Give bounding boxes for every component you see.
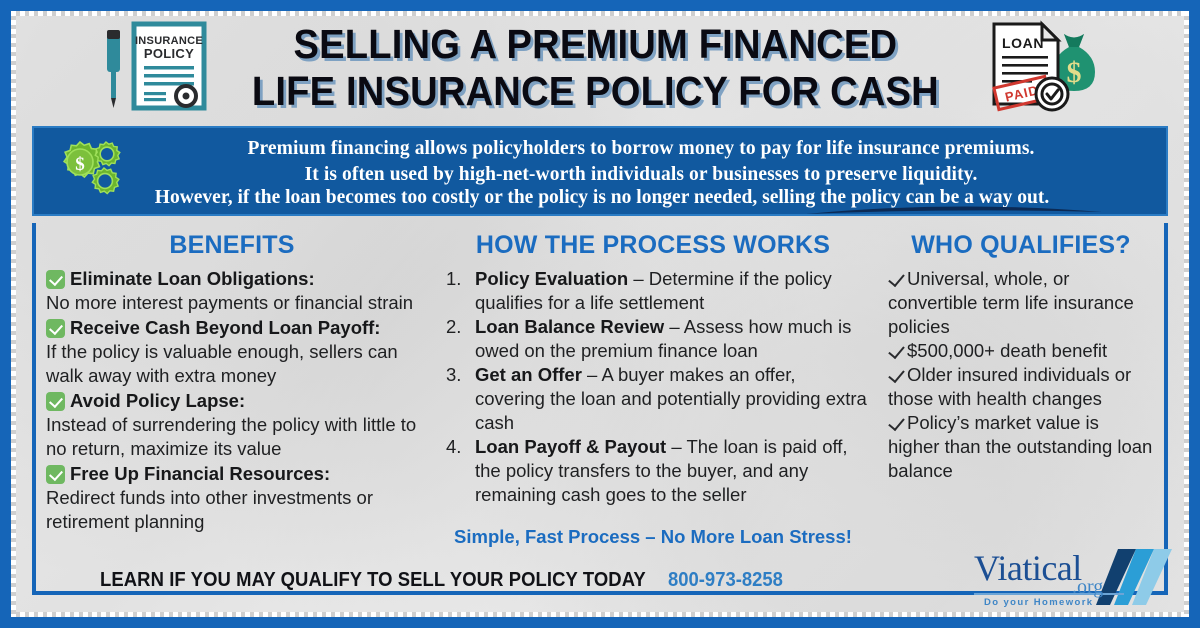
svg-text:LOAN: LOAN: [1002, 35, 1044, 51]
process-step: Policy Evaluation – Determine if the pol…: [444, 267, 868, 315]
three-column-layout: BENEFITS Eliminate Loan Obligations: No …: [36, 223, 1164, 548]
benefit-title-row: Eliminate Loan Obligations:: [46, 267, 418, 291]
banner-line-1: Premium financing allows policyholders t…: [130, 136, 1152, 162]
process-step-dash: –: [664, 316, 684, 337]
title-line-1: SELLING A PREMIUM FINANCED: [251, 21, 938, 68]
benefits-heading: BENEFITS: [46, 231, 418, 260]
benefit-item: Avoid Policy Lapse: Instead of surrender…: [46, 389, 418, 461]
benefit-title: Avoid Policy Lapse:: [70, 389, 245, 413]
process-step-title: Loan Balance Review: [475, 316, 664, 337]
qualify-heading: WHO QUALIFIES?: [888, 231, 1154, 260]
process-step-dash: –: [628, 268, 649, 289]
green-check-icon: [46, 392, 65, 411]
process-tagline: Simple, Fast Process – No More Loan Stre…: [438, 526, 868, 548]
frame-left-bar: [0, 0, 11, 628]
banner-underline-swoosh: [804, 204, 1104, 217]
column-process: HOW THE PROCESS WORKS Policy Evaluation …: [428, 223, 878, 548]
green-check-icon: [46, 465, 65, 484]
qualify-item: Universal, whole, or convertible term li…: [888, 267, 1154, 339]
qualify-item: $500,000+ death benefit: [888, 339, 1154, 363]
green-check-icon: [46, 270, 65, 289]
checkmark-icon: [888, 272, 905, 286]
process-step: Loan Payoff & Payout – The loan is paid …: [444, 435, 868, 507]
benefit-item: Eliminate Loan Obligations: No more inte…: [46, 267, 418, 315]
qualify-item-text: $500,000+ death benefit: [907, 340, 1107, 361]
frame-top-bar: [0, 0, 1200, 11]
green-check-icon: [46, 319, 65, 338]
qualify-item-text: Universal, whole, or convertible term li…: [888, 268, 1134, 337]
process-step-dash: –: [582, 364, 602, 385]
process-step: Loan Balance Review – Assess how much is…: [444, 315, 868, 363]
checkmark-icon: [888, 416, 905, 430]
benefit-body: No more interest payments or financial s…: [46, 291, 418, 315]
content-panel: BENEFITS Eliminate Loan Obligations: No …: [32, 223, 1168, 595]
dashed-rule-left: [11, 11, 16, 617]
process-steps-list: Policy Evaluation – Determine if the pol…: [444, 267, 868, 507]
benefit-item: Receive Cash Beyond Loan Payoff: If the …: [46, 316, 418, 388]
process-step-dash: –: [666, 436, 686, 457]
process-step-title: Get an Offer: [475, 364, 582, 385]
benefit-title: Receive Cash Beyond Loan Payoff:: [70, 316, 380, 340]
qualify-item: Older insured individuals or those with …: [888, 363, 1154, 411]
insurance-policy-document-icon: INSURANCE POLICY: [94, 16, 212, 121]
infographic-poster: INSURANCE POLICY SELLING A PREMIUM FINAN…: [0, 0, 1200, 628]
cta-text: LEARN IF YOU MAY QUALIFY TO SELL YOUR PO…: [100, 568, 646, 592]
benefit-body: If the policy is valuable enough, seller…: [46, 340, 418, 388]
benefit-title-row: Free Up Financial Resources:: [46, 462, 418, 486]
qualify-item-text: Policy’s market value is higher than the…: [888, 412, 1152, 481]
premium-financing-banner: $ Premium financing allows policyholders…: [32, 126, 1168, 216]
process-step: Get an Offer – A buyer makes an offer, c…: [444, 363, 868, 435]
logo-tld: .org: [1072, 576, 1103, 599]
banner-line-2: It is often used by high-net-worth indiv…: [130, 162, 1152, 188]
page-title: SELLING A PREMIUM FINANCED LIFE INSURANC…: [212, 21, 979, 115]
benefit-title: Free Up Financial Resources:: [70, 462, 330, 486]
benefit-title-row: Avoid Policy Lapse:: [46, 389, 418, 413]
viatical-org-logo[interactable]: Viatical .org Do your Homework: [968, 543, 1180, 615]
benefit-title: Eliminate Loan Obligations:: [70, 267, 315, 291]
column-benefits: BENEFITS Eliminate Loan Obligations: No …: [36, 223, 428, 548]
checkmark-icon: [888, 368, 905, 382]
benefit-body: Redirect funds into other investments or…: [46, 486, 418, 534]
benefit-item: Free Up Financial Resources: Redirect fu…: [46, 462, 418, 534]
process-step-title: Loan Payoff & Payout: [475, 436, 666, 457]
process-heading: HOW THE PROCESS WORKS: [438, 231, 868, 260]
qualify-item: Policy’s market value is higher than the…: [888, 411, 1154, 483]
title-line-2: LIFE INSURANCE POLICY FOR CASH: [251, 68, 938, 115]
benefit-body: Instead of surrendering the policy with …: [46, 413, 418, 461]
svg-text:POLICY: POLICY: [144, 46, 194, 61]
benefit-title-row: Receive Cash Beyond Loan Payoff:: [46, 316, 418, 340]
qualify-item-text: Older insured individuals or those with …: [888, 364, 1131, 409]
logo-tagline: Do your Homework: [984, 597, 1094, 608]
column-qualify: WHO QUALIFIES? Universal, whole, or conv…: [878, 223, 1164, 548]
checkmark-icon: [888, 344, 905, 358]
header: INSURANCE POLICY SELLING A PREMIUM FINAN…: [22, 16, 1178, 120]
svg-text:$: $: [75, 154, 85, 175]
phone-number[interactable]: 800-973-8258: [668, 568, 783, 592]
frame-right-bar: [1189, 0, 1200, 628]
svg-text:$: $: [1067, 56, 1082, 89]
dashed-rule-right: [1184, 11, 1189, 617]
banner-intro-text: Premium financing allows policyholders t…: [130, 136, 1152, 188]
frame-bottom-bar: [0, 617, 1200, 628]
loan-paid-money-bag-icon: $ LOAN PAID: [978, 16, 1106, 121]
process-step-title: Policy Evaluation: [475, 268, 628, 289]
logo-wordmark: Viatical: [974, 547, 1082, 589]
